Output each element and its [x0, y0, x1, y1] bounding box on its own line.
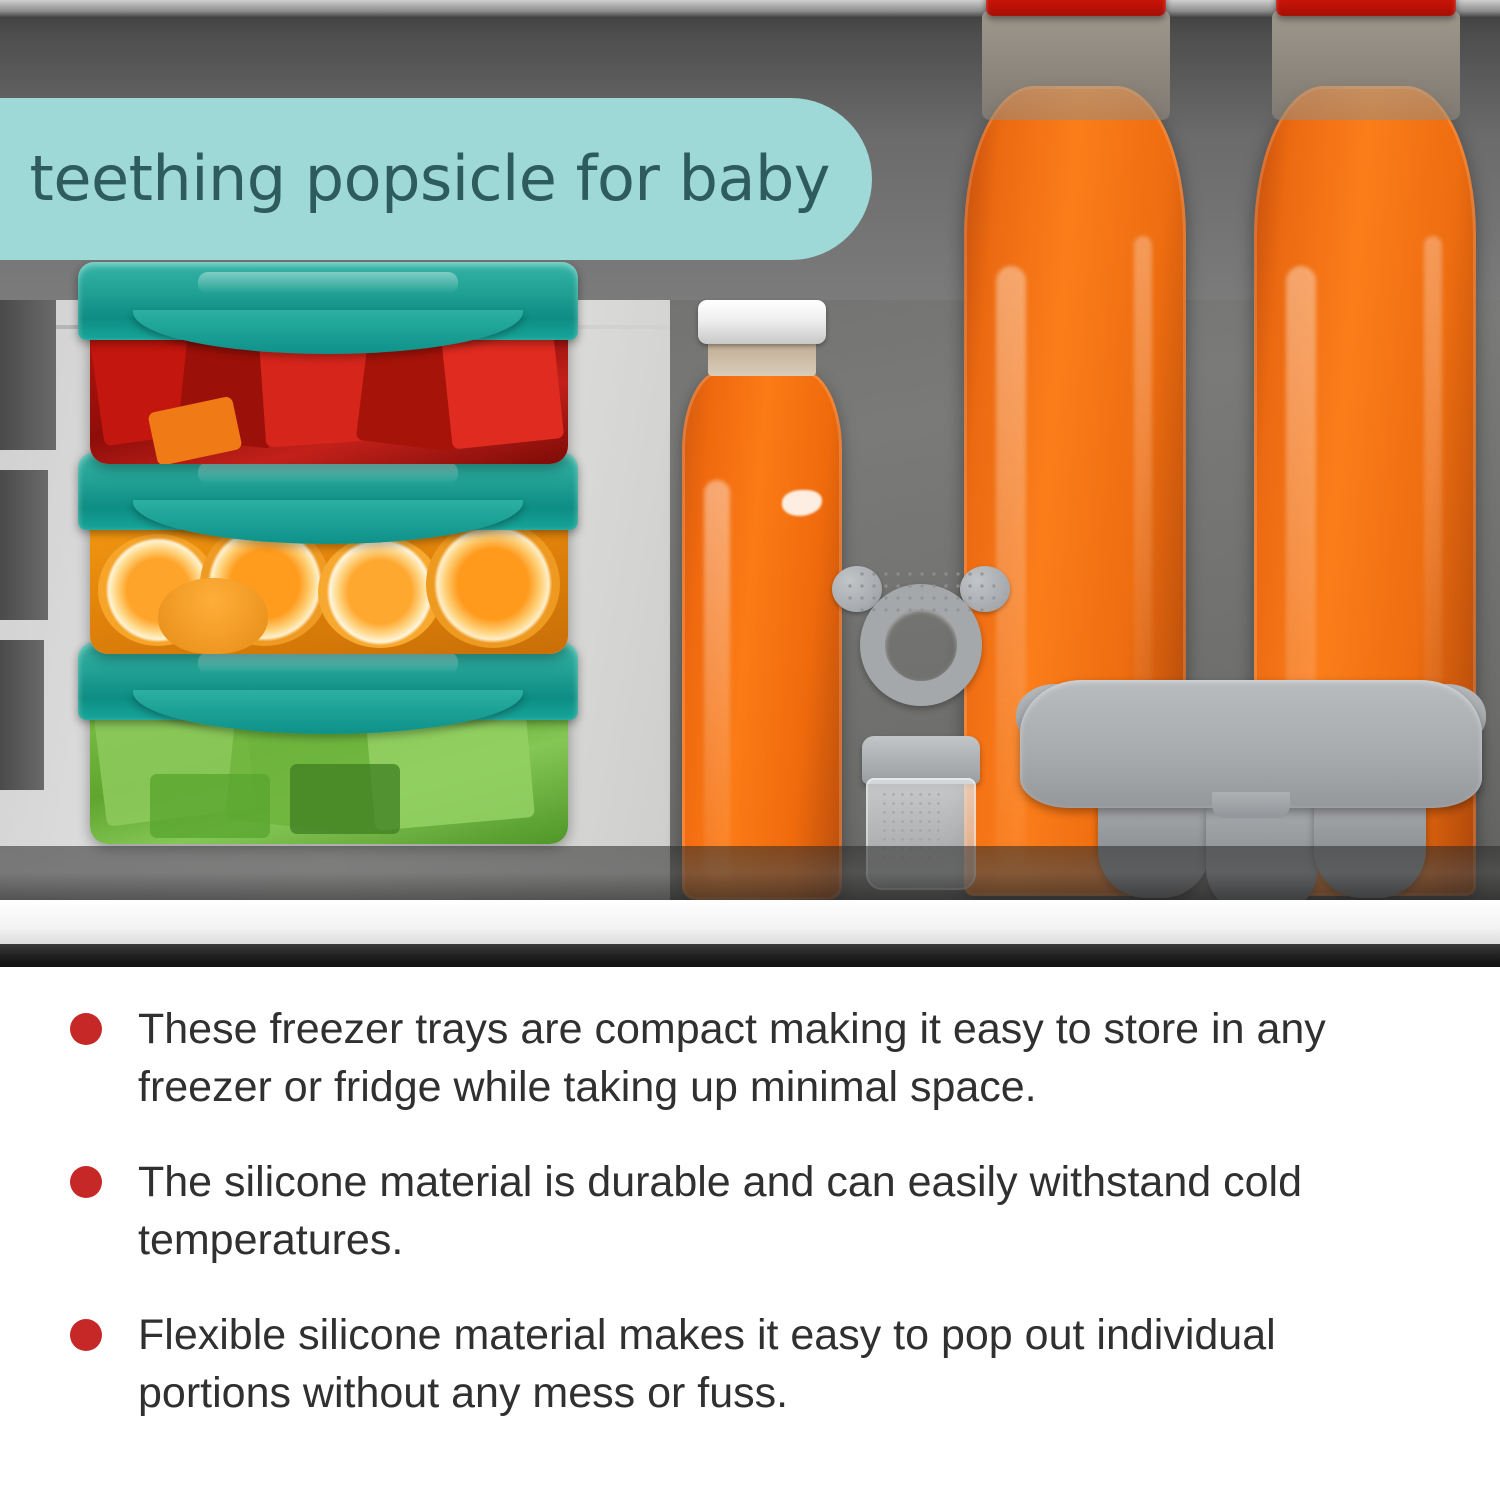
- product-feature-image: teething popsicle for baby These freezer…: [0, 0, 1500, 1500]
- lettuce-leaf: [290, 764, 400, 834]
- orange-slice: [426, 520, 560, 648]
- orange-slice: [158, 578, 268, 654]
- bottle-highlight-secondary: [1424, 236, 1442, 756]
- feature-text: These freezer trays are compact making i…: [138, 1001, 1438, 1116]
- stacked-containers: [78, 262, 638, 902]
- bottle-highlight-secondary: [1134, 236, 1152, 756]
- bottle-cap-red: [986, 0, 1166, 16]
- feature-text: The silicone material is durable and can…: [138, 1154, 1438, 1269]
- tray-lid-tab: [1212, 792, 1290, 818]
- bottle-neck: [1272, 10, 1460, 120]
- lettuce-leaf: [150, 774, 270, 838]
- bottle-cap-red: [1276, 0, 1456, 16]
- bullet-dot-icon: [70, 1319, 102, 1351]
- bullet-dot-icon: [70, 1166, 102, 1198]
- bottle-specular-highlight: [782, 490, 822, 516]
- bottle-neck: [708, 340, 816, 376]
- feature-text: Flexible silicone material makes it easy…: [138, 1307, 1438, 1422]
- fridge-rib-1: [0, 300, 56, 450]
- bottle-cap-white: [698, 300, 826, 344]
- bottle-neck: [982, 10, 1170, 120]
- bottle-highlight: [704, 480, 730, 880]
- feature-bullet-list: These freezer trays are compact making i…: [0, 967, 1500, 1500]
- orange-slice: [318, 536, 442, 648]
- list-item: These freezer trays are compact making i…: [60, 1001, 1440, 1116]
- headline-banner: teething popsicle for baby: [0, 98, 872, 260]
- bullet-dot-icon: [70, 1013, 102, 1045]
- feeder-collar: [862, 736, 980, 784]
- fridge-rib-3: [0, 640, 44, 790]
- bottle-body: [682, 370, 842, 900]
- container-lid-pepper: [78, 262, 578, 340]
- fridge-shelf-front-edge: [0, 900, 1500, 948]
- small-juice-bottle: [678, 300, 846, 900]
- tray-lid: [1020, 680, 1482, 808]
- fridge-shelf-shadow: [0, 944, 1500, 967]
- fridge-rib-2: [0, 470, 48, 620]
- list-item: Flexible silicone material makes it easy…: [60, 1307, 1440, 1422]
- list-item: The silicone material is durable and can…: [60, 1154, 1440, 1269]
- feeder-texture-dots: [844, 568, 996, 616]
- product-photo: teething popsicle for baby: [0, 0, 1500, 967]
- headline-banner-text: teething popsicle for baby: [30, 148, 830, 210]
